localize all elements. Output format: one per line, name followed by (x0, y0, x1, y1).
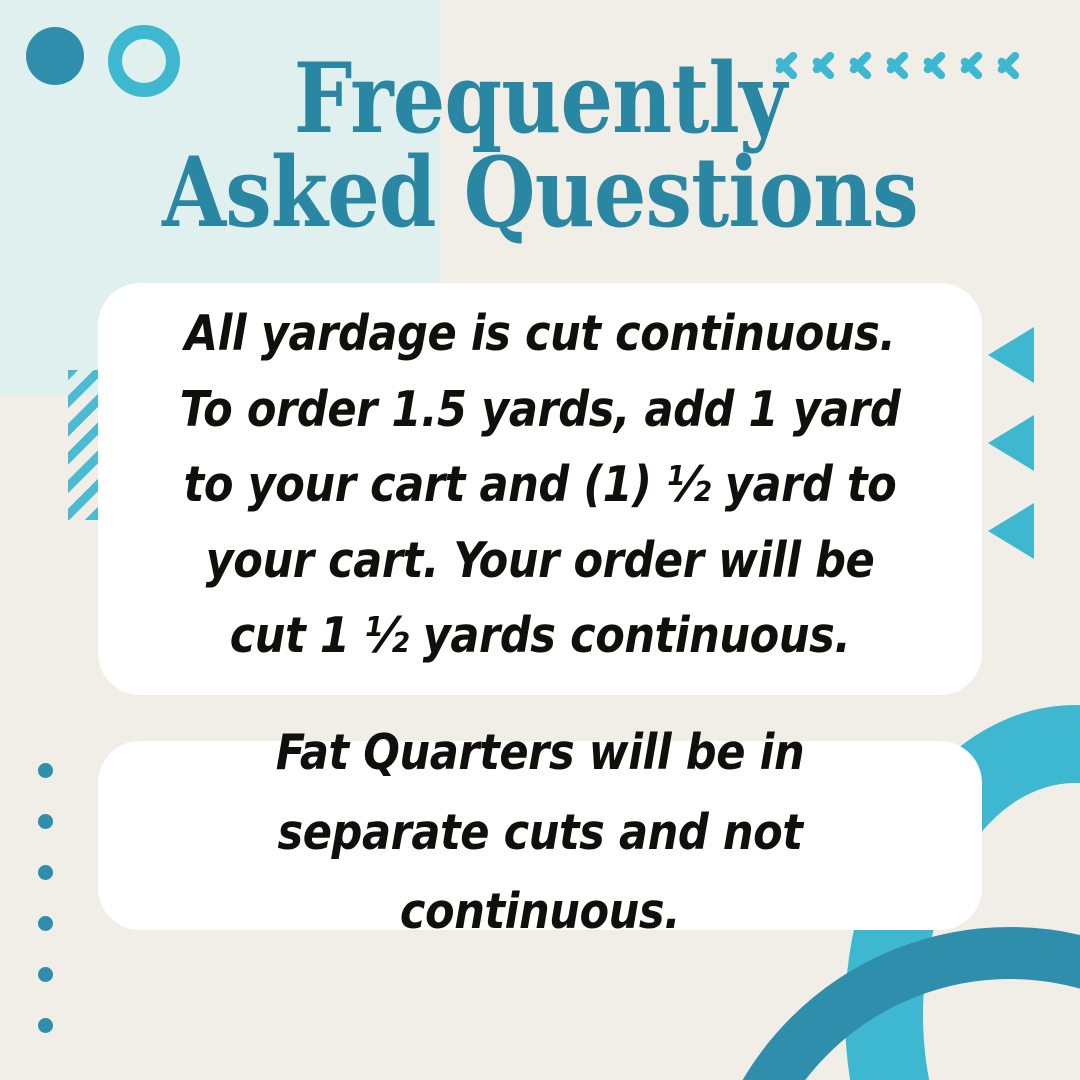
small-dot-icon (38, 865, 53, 880)
chevron-left-icon (1016, 40, 1042, 84)
faq-graphic-canvas: Frequently Asked Questions All yardage i… (0, 0, 1080, 1080)
triangle-left-icon (988, 503, 1034, 559)
faq-card-2-text: Fat Quarters will be in separate cuts an… (181, 713, 899, 951)
dot-column-decoration (38, 763, 53, 1033)
faq-card-2: Fat Quarters will be in separate cuts an… (98, 741, 982, 930)
small-dot-icon (38, 1018, 53, 1033)
triangle-column-decoration (988, 327, 1034, 559)
faq-card-1-text: All yardage is cut continuous. To order … (174, 296, 906, 673)
triangle-left-icon (988, 415, 1034, 471)
triangle-left-icon (988, 327, 1034, 383)
page-title: Frequently Asked Questions (76, 52, 1005, 240)
small-dot-icon (38, 967, 53, 982)
small-dot-icon (38, 763, 53, 778)
faq-card-1: All yardage is cut continuous. To order … (98, 283, 982, 695)
small-dot-icon (38, 814, 53, 829)
small-dot-icon (38, 916, 53, 931)
